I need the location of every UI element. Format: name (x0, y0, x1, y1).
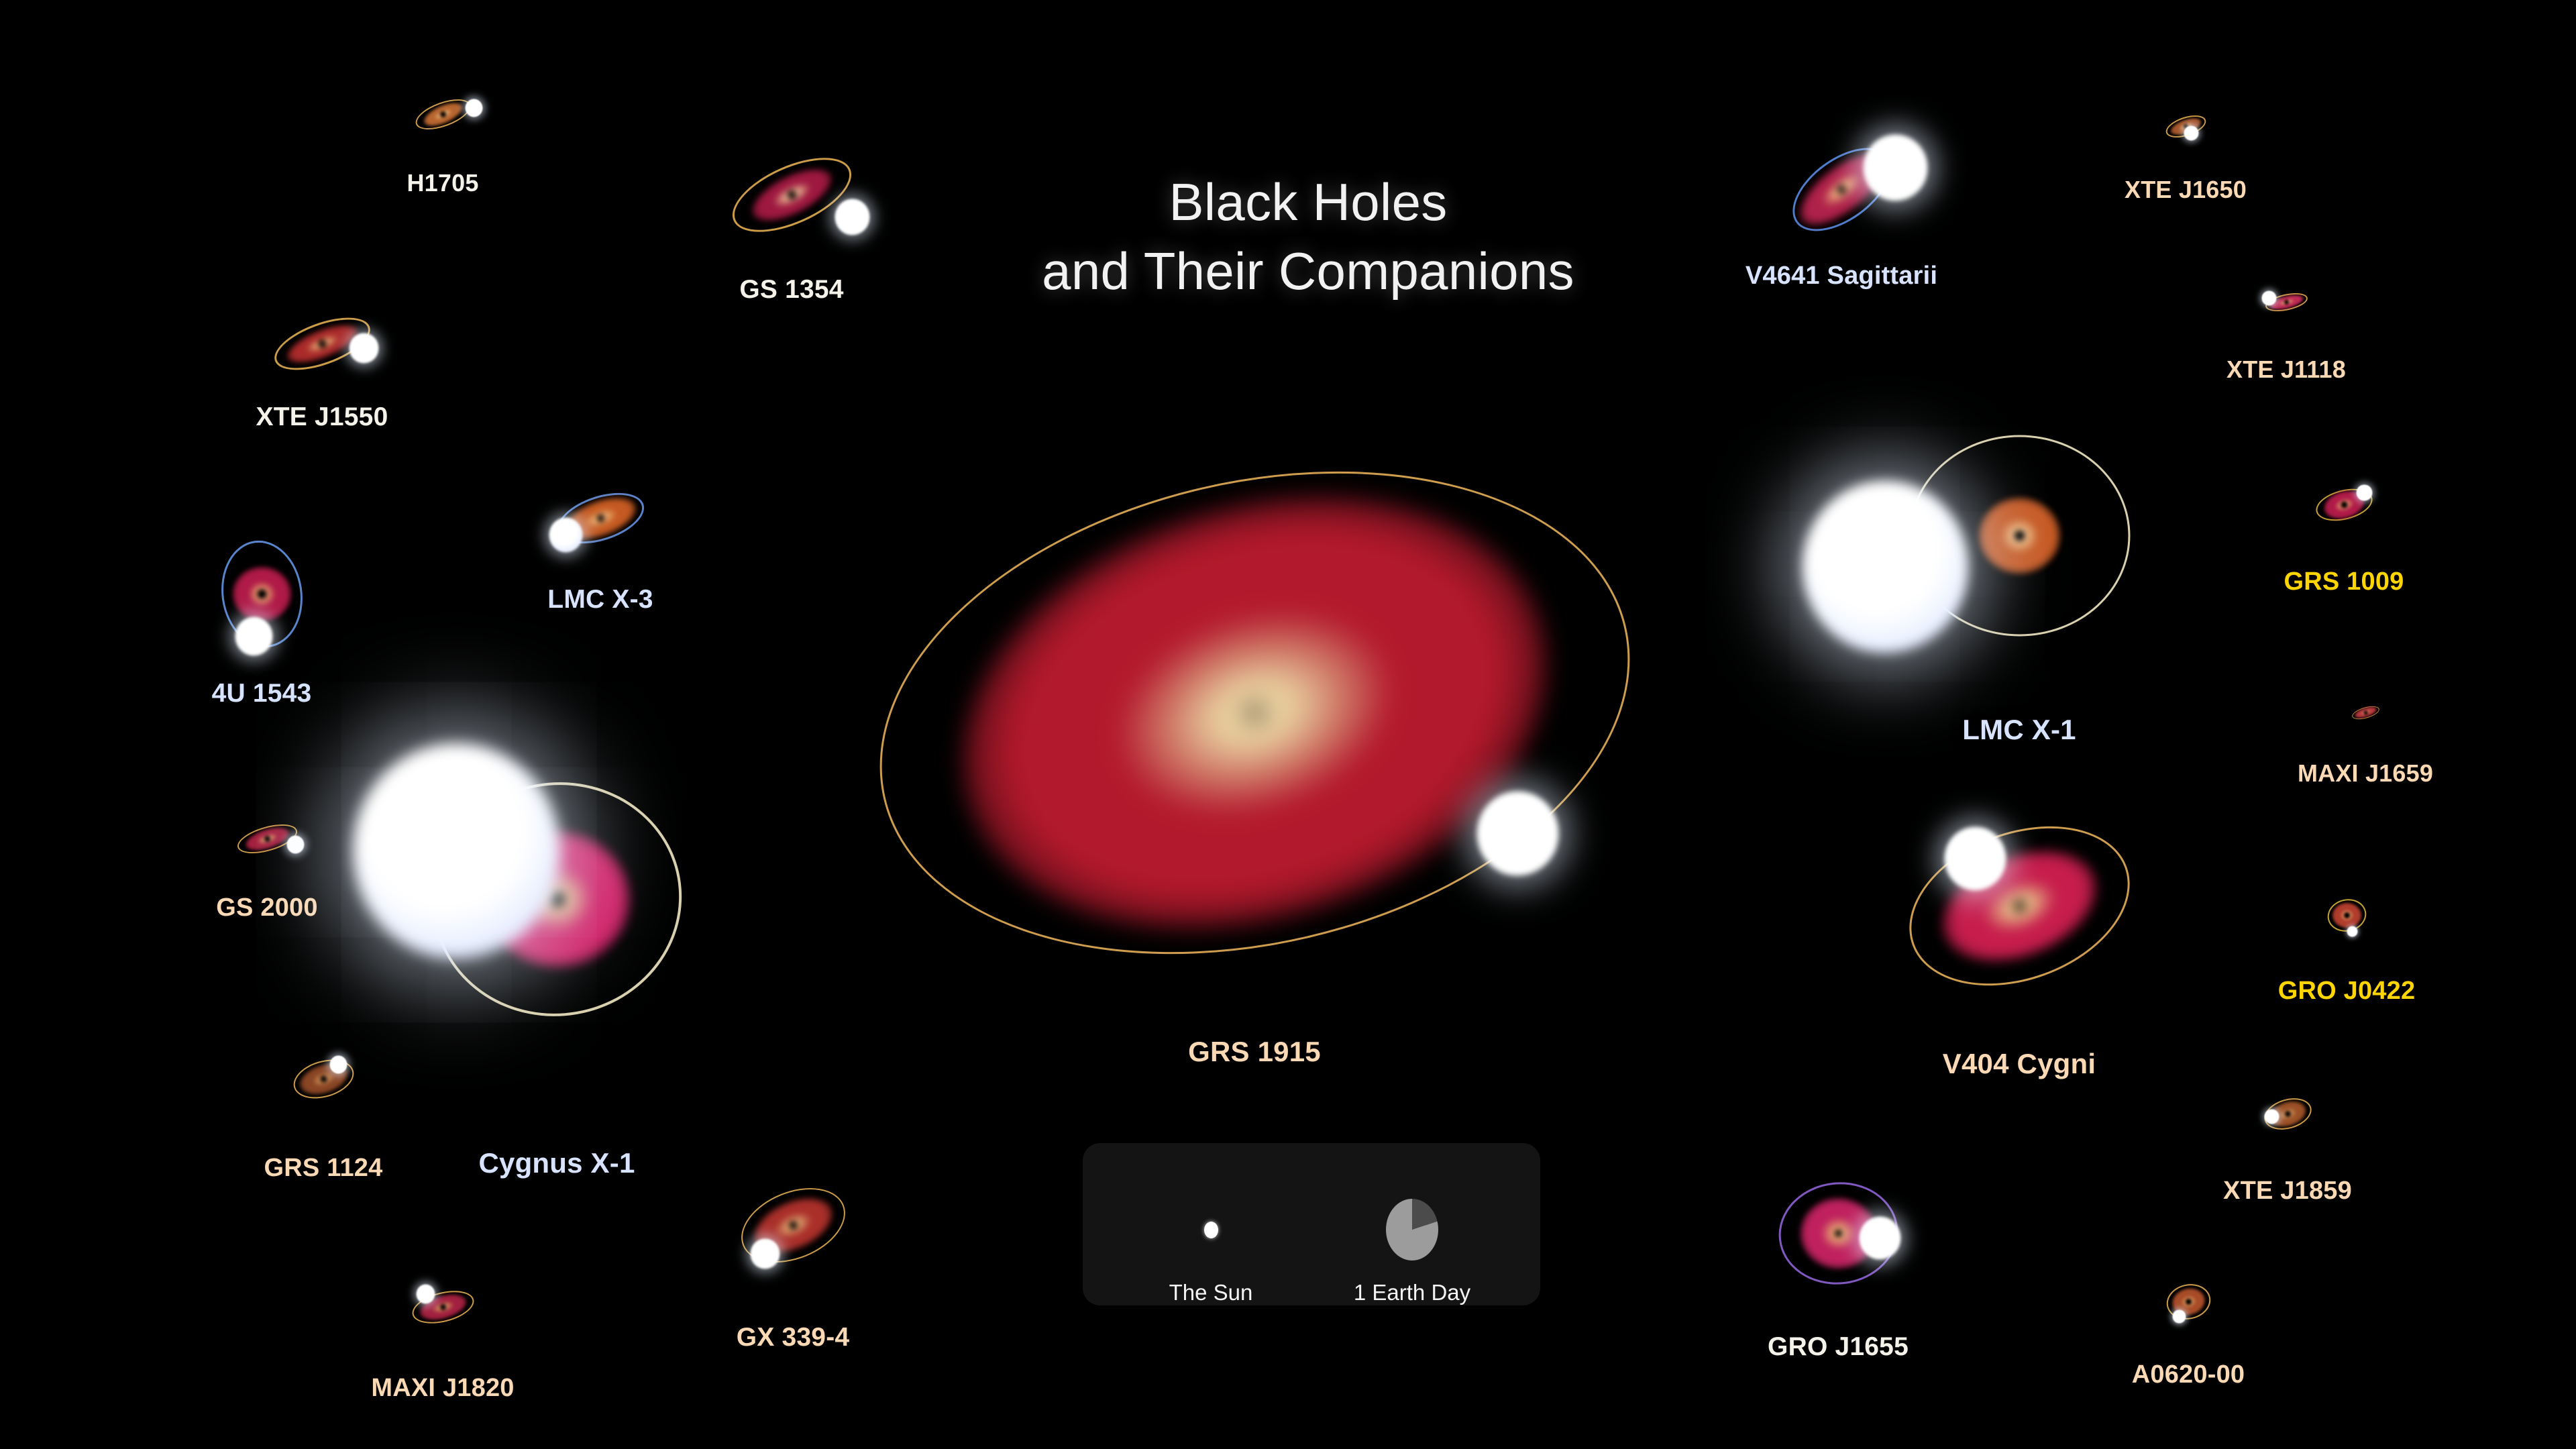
black-hole-dot (317, 339, 326, 347)
companion-star (2347, 926, 2357, 937)
binary-system-v404-cygni[interactable] (2019, 906, 2020, 906)
black-hole-dot (258, 590, 266, 598)
black-hole-dot (1246, 704, 1263, 720)
system-label-a0620-00: A0620-00 (2132, 1360, 2245, 1389)
black-hole-dot (787, 190, 797, 200)
system-label-lmc-x-1: LMC X-1 (1962, 714, 2076, 746)
black-hole-dot (2284, 300, 2288, 304)
binary-system-gs-2000[interactable] (267, 839, 268, 839)
binary-system-cygnus-x-1[interactable] (557, 899, 557, 900)
black-hole-dot (2285, 1111, 2291, 1117)
binary-system-grs-1009[interactable] (2344, 504, 2345, 505)
companion-star (286, 835, 304, 853)
black-hole-dot (2013, 900, 2025, 912)
binary-system-xte-j1550[interactable] (322, 343, 323, 344)
companion-star (750, 1238, 780, 1269)
black-hole-dot (1835, 1230, 1841, 1236)
title-line-2: and Their Companions (1033, 237, 1583, 306)
binary-system-xte-j1859[interactable] (2288, 1114, 2288, 1114)
binary-system-gs-1354[interactable] (792, 195, 792, 195)
system-label-grs-1009: GRS 1009 (2284, 568, 2404, 596)
system-label-gro-j0422: GRO J0422 (2278, 977, 2416, 1006)
companion-star (2261, 290, 2276, 306)
companion-star (416, 1284, 435, 1303)
binary-system-gro-j0422[interactable] (2347, 915, 2347, 916)
companion-star (329, 1055, 347, 1073)
black-hole-dot (440, 1304, 446, 1310)
system-label-h1705: H1705 (407, 169, 478, 197)
accretion-disk (2332, 902, 2361, 928)
companion-star (835, 199, 869, 235)
system-label-gs-1354: GS 1354 (739, 275, 843, 305)
legend-item-sun: The Sun (1110, 1143, 1311, 1332)
binary-system-v4641-sagittarii[interactable] (1841, 189, 1842, 190)
system-label-xte-j1859: XTE J1859 (2223, 1177, 2352, 1205)
companion-star (2172, 1309, 2186, 1324)
system-label-4u-1543: 4U 1543 (212, 679, 312, 708)
system-label-v404-cygni: V404 Cygni (1943, 1048, 2096, 1080)
system-label-gx-339-4: GX 339-4 (737, 1323, 850, 1352)
binary-system-h1705[interactable] (443, 114, 443, 115)
binary-system-maxi-j1820[interactable] (443, 1307, 443, 1307)
binary-system-grs-1124[interactable] (323, 1079, 324, 1079)
companion-star (349, 333, 378, 364)
companion-star (1477, 791, 1558, 876)
title-line-1: Black Holes (1033, 168, 1583, 237)
binary-system-a0620-00[interactable] (2188, 1301, 2189, 1302)
scale-legend-panel: The Sun 1 Earth Day (1083, 1143, 1540, 1305)
binary-system-lmc-x-3[interactable] (600, 518, 601, 519)
binary-system-xte-j1650[interactable] (2186, 126, 2186, 127)
black-hole-dot (596, 514, 604, 522)
binary-system-4u-1543[interactable] (262, 594, 262, 594)
system-label-gs-2000: GS 2000 (216, 894, 317, 922)
companion-star (2264, 1109, 2279, 1124)
clock-pie-icon (1386, 1199, 1438, 1260)
binary-system-grs-1915[interactable] (1254, 712, 1255, 713)
companion-star (1802, 480, 1968, 653)
black-hole-dot (2341, 501, 2347, 508)
starfield-canvas: Black Holes and Their Companions H1705GS… (0, 0, 2576, 1449)
black-hole-dot (2345, 913, 2349, 918)
legend-sun-label: The Sun (1169, 1280, 1253, 1305)
companion-star (2184, 125, 2198, 141)
companion-star (1944, 826, 2006, 891)
black-hole-dot (1836, 184, 1846, 194)
black-hole-dot (439, 111, 445, 117)
accretion-disk (1978, 497, 2060, 574)
black-hole-dot (2363, 710, 2367, 714)
black-hole-dot (2015, 531, 2024, 540)
binary-system-maxi-j1659[interactable] (2365, 712, 2366, 713)
black-hole-dot (264, 836, 270, 842)
system-label-maxi-j1659: MAXI J1659 (2298, 759, 2433, 788)
legend-day-art (1386, 1179, 1438, 1280)
companion-star (235, 616, 272, 655)
companion-star (352, 743, 560, 959)
binary-system-xte-j1118[interactable] (2286, 302, 2287, 303)
page-title: Black Holes and Their Companions (1033, 168, 1583, 306)
companion-star (1859, 1216, 1900, 1259)
companion-star (2356, 484, 2372, 501)
system-label-cygnus-x-1: Cygnus X-1 (478, 1147, 635, 1179)
legend-item-day: 1 Earth Day (1311, 1143, 1513, 1332)
legend-day-label: 1 Earth Day (1354, 1280, 1470, 1305)
system-label-v4641-sagittarii: V4641 Sagittarii (1746, 262, 1937, 290)
black-hole-dot (2186, 1299, 2191, 1304)
system-label-xte-j1650: XTE J1650 (2125, 176, 2247, 204)
black-hole-dot (320, 1075, 327, 1082)
binary-system-lmc-x-1[interactable] (2019, 535, 2020, 536)
companion-star (1863, 134, 1927, 201)
companion-star (549, 517, 582, 552)
system-label-grs-1124: GRS 1124 (264, 1154, 383, 1183)
binary-system-gro-j1655[interactable] (1838, 1233, 1839, 1234)
system-label-grs-1915: GRS 1915 (1188, 1036, 1321, 1068)
system-label-xte-j1118: XTE J1118 (2226, 356, 2346, 384)
binary-system-gx-339-4[interactable] (793, 1225, 794, 1226)
companion-star (465, 99, 482, 117)
sun-dot-icon (1204, 1222, 1218, 1238)
black-hole-dot (788, 1220, 797, 1229)
system-label-gro-j1655: GRO J1655 (1768, 1332, 1909, 1362)
system-label-lmc-x-3: LMC X-3 (547, 585, 653, 614)
legend-sun-art (1204, 1179, 1218, 1280)
system-label-xte-j1550: XTE J1550 (256, 402, 388, 432)
system-label-maxi-j1820: MAXI J1820 (371, 1374, 514, 1403)
accretion-disk (232, 566, 291, 621)
